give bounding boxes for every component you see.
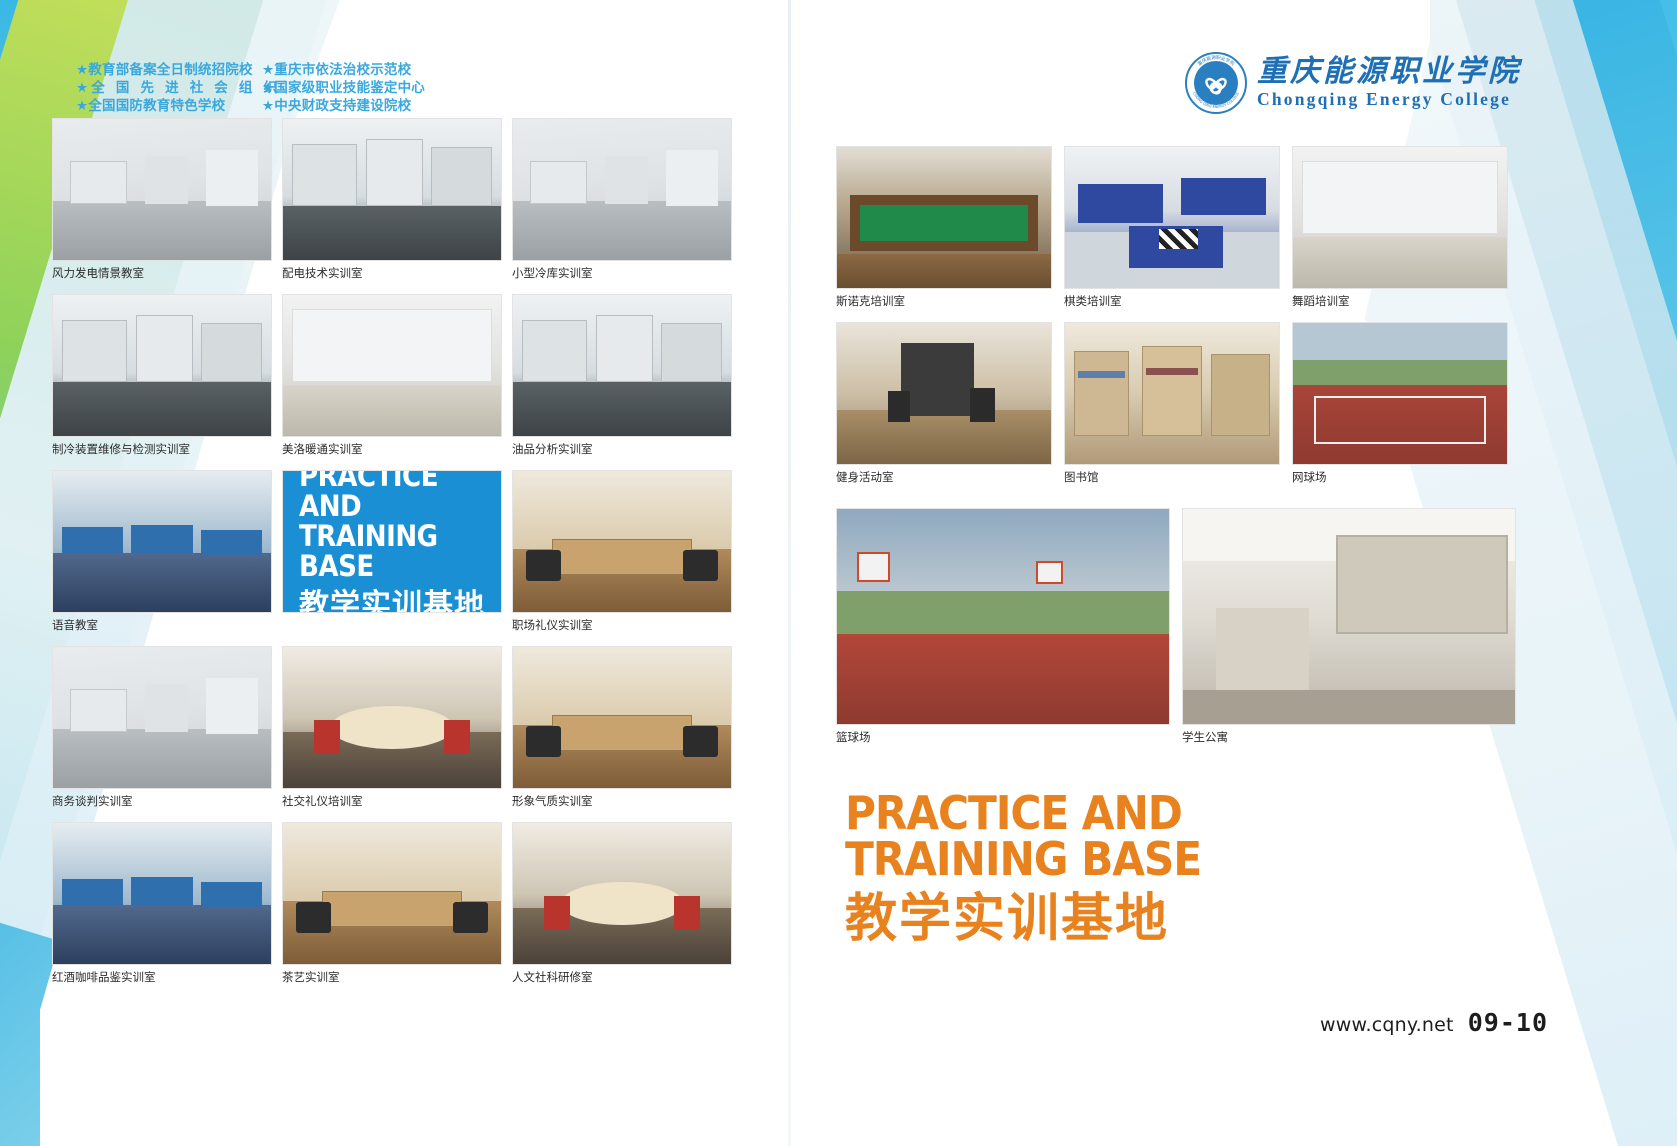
- photo-caption: 风力发电情景教室: [52, 266, 272, 280]
- content-layer: ★教育部备案全日制统招院校 ★重庆市依法治校示范校 ★全 国 先 进 社 会 组…: [0, 0, 1677, 1146]
- blue-panel-chinese: 教学实训基地: [299, 589, 485, 614]
- photo-image: [52, 294, 272, 437]
- photo-image: [512, 294, 732, 437]
- photo-cell: 学生公寓: [1182, 508, 1516, 744]
- photo-caption: 图书馆: [1064, 470, 1280, 484]
- photo-image: [512, 646, 732, 789]
- credential-right-3: ★中央财政支持建设院校: [262, 98, 432, 114]
- photo-content: [53, 471, 271, 612]
- photo-content: [1065, 323, 1279, 464]
- photo-caption: 健身活动室: [836, 470, 1052, 484]
- photo-content: [283, 119, 501, 260]
- photo-caption: 形象气质实训室: [512, 794, 732, 808]
- photo-content: [513, 823, 731, 964]
- photo-cell: 健身活动室: [836, 322, 1052, 484]
- photo-caption: 斯诺克培训室: [836, 294, 1052, 308]
- photo-cell: 舞蹈培训室: [1292, 146, 1508, 308]
- photo-image: [282, 118, 502, 261]
- photo-image: [836, 508, 1170, 725]
- photo-content: [283, 295, 501, 436]
- photo-cell: 商务谈判实训室: [52, 646, 272, 808]
- photo-caption: 棋类培训室: [1064, 294, 1280, 308]
- photo-caption: 茶艺实训室: [282, 970, 502, 984]
- brochure-spread: ★教育部备案全日制统招院校 ★重庆市依法治校示范校 ★全 国 先 进 社 会 组…: [0, 0, 1677, 1146]
- blue-panel-line1: PRACTICE AND: [299, 470, 485, 521]
- photo-caption: 舞蹈培训室: [1292, 294, 1508, 308]
- photo-cell: 语音教室: [52, 470, 272, 632]
- photo-cell: 人文社科研修室: [512, 822, 732, 984]
- photo-cell: 斯诺克培训室: [836, 146, 1052, 308]
- photo-caption: 职场礼仪实训室: [512, 618, 732, 632]
- practice-training-panel-blue: PRACTICE ANDTRAINING BASE教学实训基地: [282, 470, 502, 613]
- logo-text-block: 重庆能源职业学院 Chongqing Energy College: [1257, 56, 1521, 111]
- photo-image: [52, 646, 272, 789]
- photo-image: [52, 118, 272, 261]
- photo-image: [512, 470, 732, 613]
- photo-content: [283, 647, 501, 788]
- photo-image: [1064, 322, 1280, 465]
- page-footer: www.cqny.net / 09-10: [1320, 1008, 1548, 1037]
- photo-caption: 篮球场: [836, 730, 1170, 744]
- photo-cell: 图书馆: [1064, 322, 1280, 484]
- credential-right-1: ★重庆市依法治校示范校: [262, 62, 432, 78]
- photo-content: [1065, 147, 1279, 288]
- footer-website-url[interactable]: www.cqny.net: [1320, 1014, 1454, 1036]
- photo-content: [513, 647, 731, 788]
- orange-title-line2: TRAINING BASE: [845, 836, 1201, 882]
- photo-image: [1292, 322, 1508, 465]
- photo-cell: 制冷装置维修与检测实训室: [52, 294, 272, 456]
- photo-cell: 篮球场: [836, 508, 1170, 744]
- photo-cell: 棋类培训室: [1064, 146, 1280, 308]
- photo-cell: 形象气质实训室: [512, 646, 732, 808]
- photo-content: [1293, 323, 1507, 464]
- photo-content: [837, 323, 1051, 464]
- credential-left-3: ★全国国防教育特色学校: [76, 98, 256, 114]
- photo-caption: 商务谈判实训室: [52, 794, 272, 808]
- photo-cell: 油品分析实训室: [512, 294, 732, 456]
- left-page-photo-grid: 风力发电情景教室配电技术实训室小型冷库实训室制冷装置维修与检测实训室美洛暖通实训…: [52, 118, 732, 984]
- photo-content: [53, 295, 271, 436]
- photo-cell: 小型冷库实训室: [512, 118, 732, 280]
- photo-content: [837, 147, 1051, 288]
- logo-chinese-name: 重庆能源职业学院: [1257, 56, 1521, 88]
- credentials-block: ★教育部备案全日制统招院校 ★重庆市依法治校示范校 ★全 国 先 进 社 会 组…: [76, 62, 432, 114]
- photo-cell: 职场礼仪实训室: [512, 470, 732, 632]
- photo-caption: 语音教室: [52, 618, 272, 632]
- photo-image: [836, 146, 1052, 289]
- right-page-large-photos: 篮球场学生公寓: [836, 508, 1516, 744]
- photo-content: [837, 509, 1169, 724]
- orange-title-chinese: 教学实训基地: [845, 888, 1232, 950]
- photo-image: [282, 646, 502, 789]
- photo-content: [513, 295, 731, 436]
- photo-content: [53, 823, 271, 964]
- photo-caption: 小型冷库实训室: [512, 266, 732, 280]
- photo-image: [512, 118, 732, 261]
- photo-image: [1292, 146, 1508, 289]
- photo-image: [1182, 508, 1516, 725]
- photo-caption: 学生公寓: [1182, 730, 1516, 744]
- photo-caption: 制冷装置维修与检测实训室: [52, 442, 272, 456]
- logo-seal-icon: 重庆能源职业学院 CHONG QING ENERGY COLLEGE: [1185, 52, 1247, 114]
- practice-training-title-orange: PRACTICE AND TRAINING BASE 教学实训基地: [845, 790, 1232, 950]
- photo-cell: PRACTICE ANDTRAINING BASE教学实训基地: [282, 470, 502, 632]
- photo-caption: 美洛暖通实训室: [282, 442, 502, 456]
- photo-content: [513, 119, 731, 260]
- photo-caption: 人文社科研修室: [512, 970, 732, 984]
- photo-content: [283, 823, 501, 964]
- photo-image: [836, 322, 1052, 465]
- photo-image: [1064, 146, 1280, 289]
- photo-image: [512, 822, 732, 965]
- photo-cell: 红酒咖啡品鉴实训室: [52, 822, 272, 984]
- photo-caption: 油品分析实训室: [512, 442, 732, 456]
- photo-image: [52, 822, 272, 965]
- orange-title-line1: PRACTICE AND: [845, 790, 1201, 836]
- credential-left-1: ★教育部备案全日制统招院校: [76, 62, 256, 78]
- photo-image: [282, 294, 502, 437]
- blue-panel-line2: TRAINING BASE: [299, 521, 485, 581]
- credential-left-2: ★全 国 先 进 社 会 组 织: [76, 80, 256, 96]
- photo-caption: 配电技术实训室: [282, 266, 502, 280]
- photo-cell: 风力发电情景教室: [52, 118, 272, 280]
- credential-right-2: ★国家级职业技能鉴定中心: [262, 80, 432, 96]
- photo-cell: 社交礼仪培训室: [282, 646, 502, 808]
- photo-content: [513, 471, 731, 612]
- photo-caption: 网球场: [1292, 470, 1508, 484]
- footer-page-number: 09-10: [1468, 1008, 1548, 1037]
- photo-cell: 茶艺实训室: [282, 822, 502, 984]
- photo-image: [52, 470, 272, 613]
- photo-cell: 网球场: [1292, 322, 1508, 484]
- photo-content: [53, 647, 271, 788]
- logo-petals-icon: [1194, 61, 1238, 105]
- photo-cell: 配电技术实训室: [282, 118, 502, 280]
- college-logo: 重庆能源职业学院 CHONG QING ENERGY COLLEGE: [1185, 52, 1521, 114]
- photo-caption: 社交礼仪培训室: [282, 794, 502, 808]
- footer-separator: /: [1455, 1011, 1467, 1037]
- photo-image: [282, 822, 502, 965]
- photo-content: [53, 119, 271, 260]
- logo-english-name: Chongqing Energy College: [1257, 89, 1521, 110]
- right-page-photo-grid: 斯诺克培训室棋类培训室舞蹈培训室健身活动室图书馆网球场: [836, 146, 1508, 484]
- photo-cell: 美洛暖通实训室: [282, 294, 502, 456]
- photo-caption: 红酒咖啡品鉴实训室: [52, 970, 272, 984]
- photo-content: [1183, 509, 1515, 724]
- photo-content: [1293, 147, 1507, 288]
